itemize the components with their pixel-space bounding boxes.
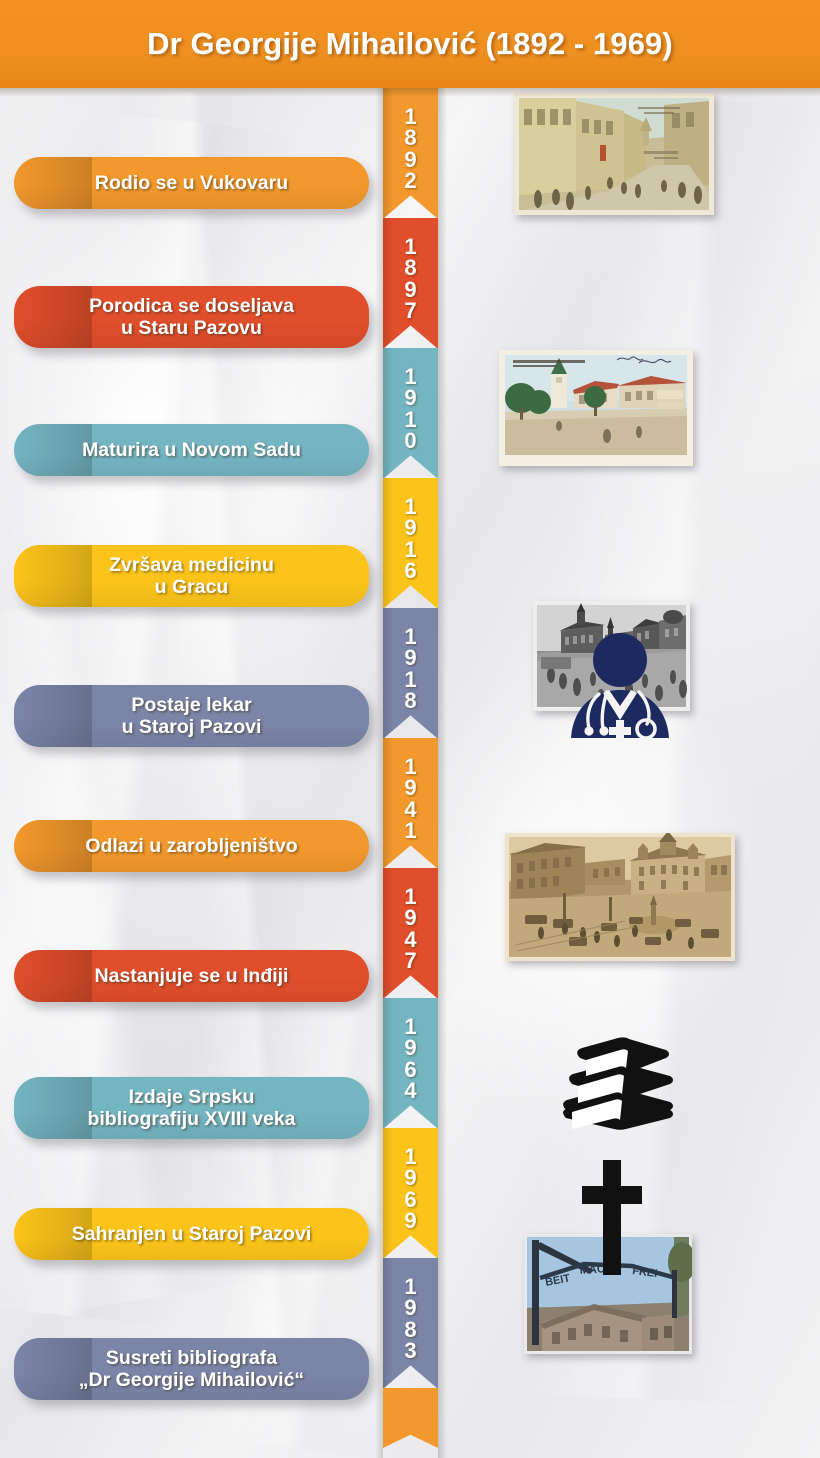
graz-hauptplatz-photo	[505, 833, 735, 961]
pill-gloss	[14, 286, 92, 348]
year-digit: 8	[404, 257, 416, 278]
timeline-segment-1947: 1947	[383, 868, 438, 999]
event-label-line1: Nastanjuje se u Inđiji	[95, 965, 289, 987]
segment-edge-shade	[383, 348, 393, 479]
year-digit: 9	[404, 517, 416, 538]
event-label-line2: bibliografiju XVIII veka	[87, 1108, 295, 1130]
year-digit: 1	[404, 1016, 416, 1037]
year-digit: 9	[404, 1037, 416, 1058]
timeline-year-label: 1941	[404, 756, 416, 840]
cross-icon	[580, 1160, 644, 1275]
year-digit: 2	[404, 170, 416, 191]
year-digit: 4	[404, 929, 416, 950]
year-digit: 1	[404, 236, 416, 257]
event-pill-1983[interactable]: Susreti bibliografa„Dr Georgije Mihailov…	[14, 1338, 369, 1400]
year-digit: 1	[404, 1276, 416, 1297]
timeline-segment-1910: 1910	[383, 348, 438, 479]
pill-gloss	[14, 820, 92, 872]
year-digit: 9	[404, 647, 416, 668]
timeline-segment-1964: 1964	[383, 998, 438, 1129]
timeline-year-label: 1916	[404, 496, 416, 580]
event-pill-1969[interactable]: Sahranjen u Staroj Pazovi	[14, 1208, 369, 1260]
year-digit: 1	[404, 539, 416, 560]
event-pill-label: Nastanjuje se u Inđiji	[95, 965, 289, 987]
year-digit: 7	[404, 950, 416, 971]
year-digit: 8	[404, 1319, 416, 1340]
pill-gloss	[14, 545, 92, 607]
event-label-line1: Sahranjen u Staroj Pazovi	[72, 1223, 311, 1245]
timeline-year-label: 1969	[404, 1146, 416, 1230]
segment-edge-shade	[383, 88, 393, 219]
timeline-segment-1916: 1916	[383, 478, 438, 609]
timeline-segment-1892: 1892	[383, 88, 438, 219]
timeline-year-label: 1964	[404, 1016, 416, 1100]
event-pill-label: Sahranjen u Staroj Pazovi	[72, 1223, 311, 1245]
pill-gloss	[14, 1077, 92, 1139]
event-label-line1: Rodio se u Vukovaru	[95, 172, 288, 194]
books-stack-icon	[552, 1032, 680, 1130]
pill-gloss	[14, 950, 92, 1002]
year-digit: 6	[404, 560, 416, 581]
timeline-segment-1983: 1983	[383, 1258, 438, 1389]
year-digit: 4	[404, 799, 416, 820]
year-digit: 1	[404, 669, 416, 690]
event-pill-label: Izdaje Srpskubibliografiju XVIII veka	[87, 1086, 295, 1130]
event-label-line1: Izdaje Srpsku	[87, 1086, 295, 1108]
segment-edge-shade	[383, 608, 393, 739]
year-digit: 3	[404, 1340, 416, 1361]
event-label-line1: Susreti bibliografa	[79, 1347, 304, 1369]
year-digit: 1	[404, 366, 416, 387]
year-digit: 9	[404, 149, 416, 170]
segment-edge-shade	[383, 1128, 393, 1259]
event-pill-label: Odlazi u zarobljeništvo	[85, 835, 297, 857]
event-label-line1: Odlazi u zarobljeništvo	[85, 835, 297, 857]
timeline-segment-1897: 1897	[383, 218, 438, 349]
year-digit: 1	[404, 106, 416, 127]
event-pill-label: Porodica se doseljavau Staru Pazovu	[89, 295, 294, 339]
segment-edge-shade	[383, 218, 393, 349]
event-label-line1: Maturira u Novom Sadu	[82, 439, 301, 461]
timeline-segment-1918: 1918	[383, 608, 438, 739]
event-label-line2: u Staroj Pazovi	[122, 716, 262, 738]
page-title: Dr Georgije Mihailović (1892 - 1969)	[147, 26, 673, 62]
year-digit: 9	[404, 1167, 416, 1188]
year-digit: 7	[404, 300, 416, 321]
year-digit: 9	[404, 1210, 416, 1231]
year-digit: 1	[404, 409, 416, 430]
event-pill-label: Susreti bibliografa„Dr Georgije Mihailov…	[79, 1347, 304, 1391]
year-digit: 1	[404, 756, 416, 777]
event-label-line2: u Staru Pazovu	[89, 317, 294, 339]
event-label-line1: Postaje lekar	[122, 694, 262, 716]
segment-edge-shade	[383, 478, 393, 609]
year-digit: 1	[404, 496, 416, 517]
timeline-year-label: 1947	[404, 886, 416, 970]
event-pill-1892[interactable]: Rodio se u Vukovaru	[14, 157, 369, 209]
year-digit: 8	[404, 127, 416, 148]
year-digit: 9	[404, 1297, 416, 1318]
event-pill-1916[interactable]: Zvršava medicinuu Gracu	[14, 545, 369, 607]
timeline-year-label: 1918	[404, 626, 416, 710]
year-digit: 0	[404, 430, 416, 451]
segment-edge-shade	[383, 1258, 393, 1389]
timeline-tail-arrow	[383, 1388, 438, 1448]
timeline-year-label: 1910	[404, 366, 416, 450]
timeline-segment-1941: 1941	[383, 738, 438, 869]
segment-edge-shade	[383, 738, 393, 869]
segment-edge-shade	[383, 998, 393, 1129]
year-digit: 9	[404, 387, 416, 408]
year-digit: 1	[404, 626, 416, 647]
event-pill-1910[interactable]: Maturira u Novom Sadu	[14, 424, 369, 476]
event-label-line1: Porodica se doseljava	[89, 295, 294, 317]
event-pill-1964[interactable]: Izdaje Srpskubibliografiju XVIII veka	[14, 1077, 369, 1139]
year-digit: 6	[404, 1189, 416, 1210]
pill-gloss	[14, 157, 92, 209]
timeline-year-label: 1983	[404, 1276, 416, 1360]
doctor-icon	[559, 628, 681, 743]
timeline-year-label: 1897	[404, 236, 416, 320]
event-label-line2: u Gracu	[109, 576, 274, 598]
event-pill-label: Rodio se u Vukovaru	[95, 172, 288, 194]
year-digit: 6	[404, 1059, 416, 1080]
year-digit: 4	[404, 1080, 416, 1101]
year-digit: 8	[404, 690, 416, 711]
vukovar-street-postcard	[514, 93, 714, 215]
event-pill-1918[interactable]: Postaje lekaru Staroj Pazovi	[14, 685, 369, 747]
stara-pazova-postcard	[499, 350, 693, 466]
header-banner: Dr Georgije Mihailović (1892 - 1969)	[0, 0, 820, 88]
event-label-line1: Zvršava medicinu	[109, 554, 274, 576]
year-digit: 9	[404, 279, 416, 300]
timeline-ribbon: 1892189719101916191819411947196419691983	[383, 88, 438, 1458]
event-pill-1897[interactable]: Porodica se doseljavau Staru Pazovu	[14, 286, 369, 348]
event-pill-label: Maturira u Novom Sadu	[82, 439, 301, 461]
year-digit: 9	[404, 777, 416, 798]
segment-edge-shade	[383, 868, 393, 999]
timeline-year-label: 1892	[404, 106, 416, 190]
timeline-segment-1969: 1969	[383, 1128, 438, 1259]
event-label-line2: „Dr Georgije Mihailović“	[79, 1369, 304, 1391]
pill-gloss	[14, 685, 92, 747]
year-digit: 9	[404, 907, 416, 928]
infographic-page: Dr Georgije Mihailović (1892 - 1969) 189…	[0, 0, 820, 1458]
event-pill-label: Postaje lekaru Staroj Pazovi	[122, 694, 262, 738]
event-pill-1941[interactable]: Odlazi u zarobljeništvo	[14, 820, 369, 872]
pill-gloss	[14, 424, 92, 476]
event-pill-1947[interactable]: Nastanjuje se u Inđiji	[14, 950, 369, 1002]
year-digit: 1	[404, 886, 416, 907]
year-digit: 1	[404, 1146, 416, 1167]
year-digit: 1	[404, 820, 416, 841]
event-pill-label: Zvršava medicinuu Gracu	[109, 554, 274, 598]
